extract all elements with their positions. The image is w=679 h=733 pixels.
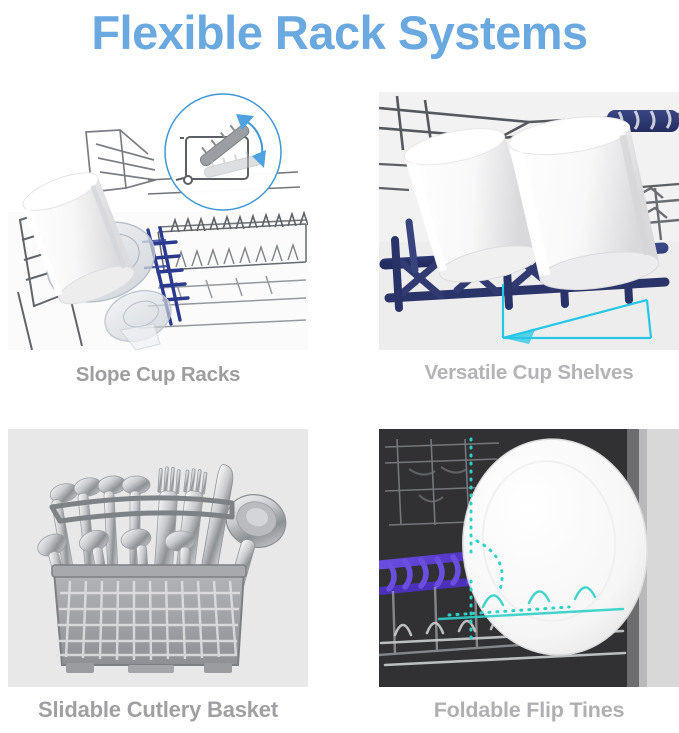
feature-card-slidable-cutlery-basket: Slidable Cutlery Basket xyxy=(8,429,308,725)
feature-card-versatile-cup-shelves: Versatile Cup Shelves xyxy=(379,92,679,388)
slope-cup-racks-illustration xyxy=(8,92,308,350)
feature-image-slope-cup-racks xyxy=(8,92,308,350)
versatile-cup-shelves-illustration xyxy=(379,92,679,350)
foldable-flip-tines-illustration xyxy=(379,429,679,687)
product-feature-infographic: Flexible Rack Systems xyxy=(0,0,679,733)
page-title: Flexible Rack Systems xyxy=(0,2,679,64)
cutlery-basket-illustration xyxy=(8,429,308,687)
inset-diagram xyxy=(165,94,281,210)
feature-image-foldable-flip-tines xyxy=(379,429,679,687)
feature-caption-versatile-cup-shelves: Versatile Cup Shelves xyxy=(379,358,679,388)
feature-grid: Slope Cup Racks xyxy=(0,92,679,733)
feature-image-slidable-cutlery-basket xyxy=(8,429,308,687)
feature-caption-slope-cup-racks: Slope Cup Racks xyxy=(8,360,308,390)
feature-card-slope-cup-racks: Slope Cup Racks xyxy=(8,92,308,390)
feature-image-versatile-cup-shelves xyxy=(379,92,679,350)
feature-card-foldable-flip-tines: Foldable Flip Tines xyxy=(379,429,679,725)
feature-caption-slidable-cutlery-basket: Slidable Cutlery Basket xyxy=(8,695,308,725)
basket-body xyxy=(52,565,246,673)
feature-caption-foldable-flip-tines: Foldable Flip Tines xyxy=(379,695,679,725)
